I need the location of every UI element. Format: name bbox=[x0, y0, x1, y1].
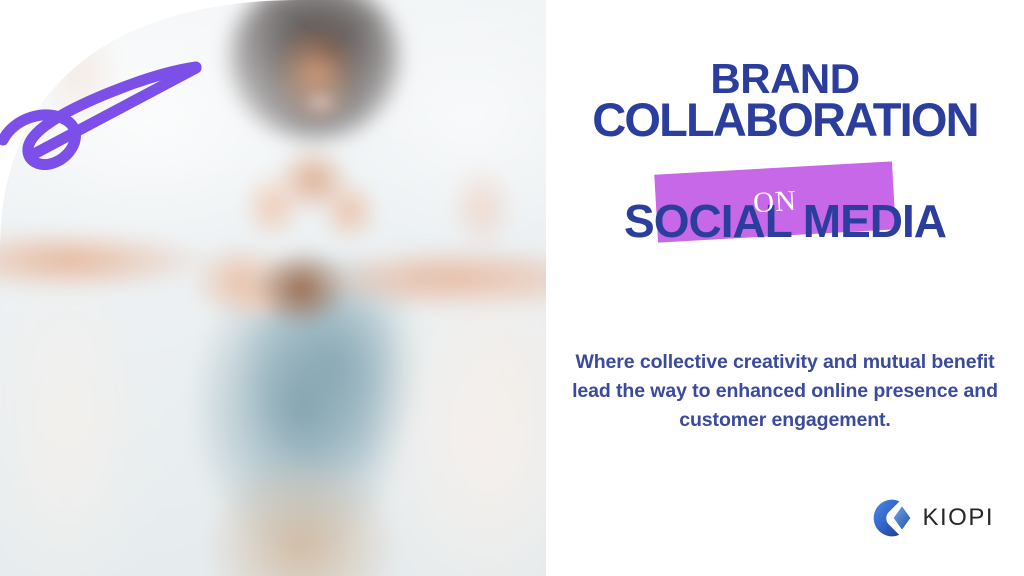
hero-photo-image bbox=[0, 0, 546, 576]
brand-logo[interactable]: KIOPI bbox=[872, 498, 994, 538]
kiopi-arrow-circle-icon bbox=[872, 498, 912, 538]
hero-photo bbox=[0, 0, 546, 576]
body-paragraph: Where collective creativity and mutual b… bbox=[570, 348, 1000, 436]
highlight-word-text: ON bbox=[752, 184, 798, 219]
headline-line-2: COLLABORATION bbox=[546, 97, 1024, 143]
headline-highlight-word: ON bbox=[654, 161, 895, 242]
slide-canvas: BRAND COLLABORATION SOCIAL MEDIA ON Wher… bbox=[0, 0, 1024, 576]
content-panel: BRAND COLLABORATION SOCIAL MEDIA ON Wher… bbox=[546, 0, 1024, 576]
brand-logo-text: KIOPI bbox=[922, 504, 994, 532]
